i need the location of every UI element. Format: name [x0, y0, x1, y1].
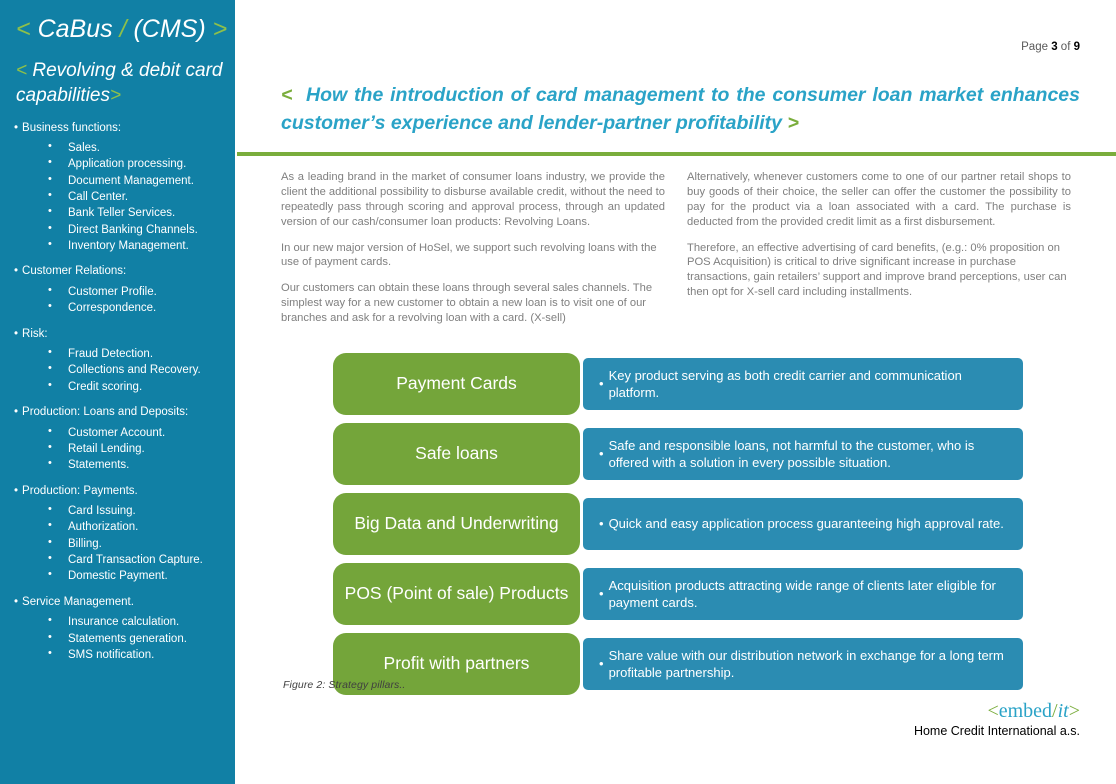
pillar-box[interactable]: Payment Cards [333, 353, 580, 415]
pillar-description-box: • Quick and easy application process gua… [583, 498, 1023, 550]
list-item[interactable]: Application processing. [10, 156, 225, 172]
diagram-row: POS (Point of sale) Products • Acquisiti… [333, 563, 1023, 625]
bullet-icon: • [599, 375, 604, 392]
pillar-description-text: Safe and responsible loans, not harmful … [609, 437, 1009, 472]
bullet-icon: • [599, 515, 604, 532]
list-item[interactable]: Billing. [10, 536, 225, 552]
bullet-icon: • [599, 655, 604, 672]
sidebar-title-main: CaBus [38, 15, 113, 43]
list-item[interactable]: Bank Teller Services. [10, 205, 225, 221]
title-divider [237, 152, 1116, 156]
paragraph: In our new major version of HoSel, we su… [281, 241, 665, 271]
sidebar-group-label: •Production: Payments. [14, 484, 225, 500]
pillar-description-text: Acquisition products attracting wide ran… [609, 577, 1009, 612]
page-label: Page [1021, 41, 1048, 53]
sidebar-group-title: Production: Payments. [22, 485, 138, 497]
sidebar-group-label: •Risk: [14, 327, 225, 343]
page-title: < How the introduction of card managemen… [281, 81, 1080, 138]
page-number: Page 3 of 9 [1021, 41, 1080, 53]
sidebar-sublist: Sales. Application processing. Document … [10, 140, 225, 254]
sidebar-group-title: Business functions: [22, 122, 121, 134]
bullet-icon: • [599, 445, 604, 462]
list-item[interactable]: Credit scoring. [10, 379, 225, 395]
sidebar: < CaBus / (CMS) > < Revolving & debit ca… [0, 0, 235, 784]
diagram-row: Big Data and Underwriting • Quick and ea… [333, 493, 1023, 555]
list-item[interactable]: Card Transaction Capture. [10, 552, 225, 568]
sidebar-sublist: Card Issuing. Authorization. Billing. Ca… [10, 503, 225, 585]
angle-close-icon: > [1069, 700, 1080, 722]
figure-caption: Figure 2: Strategy pillars.. [283, 679, 405, 691]
page-total: 9 [1074, 41, 1080, 53]
sidebar-sublist: Insurance calculation. Statements genera… [10, 614, 225, 663]
sidebar-group-title: Risk: [22, 328, 48, 340]
slide-page: < CaBus / (CMS) > < Revolving & debit ca… [0, 0, 1116, 784]
list-item[interactable]: Authorization. [10, 519, 225, 535]
pillar-description-box: • Acquisition products attracting wide r… [583, 568, 1023, 620]
sidebar-groups: •Business functions: Sales. Application … [10, 121, 225, 664]
pillar-description-box: • Safe and responsible loans, not harmfu… [583, 428, 1023, 480]
list-item[interactable]: Fraud Detection. [10, 346, 225, 362]
diagram-row: Payment Cards • Key product serving as b… [333, 353, 1023, 415]
angle-open-icon: < [281, 84, 292, 106]
list-item[interactable]: Sales. [10, 140, 225, 156]
page-current: 3 [1051, 41, 1057, 53]
paragraph: Our customers can obtain these loans thr… [281, 281, 665, 326]
pillar-box[interactable]: Safe loans [333, 423, 580, 485]
list-item[interactable]: Correspondence. [10, 300, 225, 316]
angle-open-icon: < [16, 60, 27, 81]
pillar-description-box: • Key product serving as both credit car… [583, 358, 1023, 410]
list-item[interactable]: Insurance calculation. [10, 614, 225, 630]
list-item[interactable]: Document Management. [10, 173, 225, 189]
sidebar-group-label: •Service Management. [14, 595, 225, 611]
pillar-description-text: Quick and easy application process guara… [609, 515, 1004, 532]
list-item[interactable]: Retail Lending. [10, 441, 225, 457]
diagram-row: Safe loans • Safe and responsible loans,… [333, 423, 1023, 485]
list-item[interactable]: Inventory Management. [10, 238, 225, 254]
list-item[interactable]: Domestic Payment. [10, 568, 225, 584]
body-column-right: Alternatively, whenever customers come t… [687, 170, 1071, 337]
angle-close-icon: > [213, 15, 228, 43]
sidebar-sublist: Customer Account. Retail Lending. Statem… [10, 425, 225, 474]
list-item[interactable]: Card Issuing. [10, 503, 225, 519]
list-item[interactable]: Collections and Recovery. [10, 362, 225, 378]
list-item[interactable]: SMS notification. [10, 647, 225, 663]
sidebar-sublist: Customer Profile. Correspondence. [10, 284, 225, 317]
page-title-text: How the introduction of card management … [281, 84, 1080, 134]
logo-it-text: it [1058, 700, 1069, 722]
sidebar-group-title: Production: Loans and Deposits: [22, 406, 188, 418]
list-item[interactable]: Customer Profile. [10, 284, 225, 300]
strategy-pillars-diagram: Payment Cards • Key product serving as b… [333, 353, 1023, 703]
list-item[interactable]: Customer Account. [10, 425, 225, 441]
pillar-box[interactable]: Big Data and Underwriting [333, 493, 580, 555]
sidebar-sublist: Fraud Detection. Collections and Recover… [10, 346, 225, 395]
pillar-description-box: • Share value with our distribution netw… [583, 638, 1023, 690]
pillar-description-text: Key product serving as both credit carri… [609, 367, 1009, 402]
paragraph: Therefore, an effective advertising of c… [687, 241, 1071, 301]
angle-close-icon: > [110, 85, 121, 106]
list-item[interactable]: Statements generation. [10, 631, 225, 647]
page-of-label: of [1061, 41, 1071, 53]
logo-embed-text: embed [999, 700, 1052, 722]
main-content: Page 3 of 9 < How the introduction of ca… [235, 0, 1116, 784]
angle-close-icon: > [787, 112, 798, 134]
sidebar-group-label: •Business functions: [14, 121, 225, 137]
angle-open-icon: < [16, 15, 31, 43]
bullet-icon: • [599, 585, 604, 602]
sidebar-group-label: •Production: Loans and Deposits: [14, 405, 225, 421]
sidebar-group-title: Service Management. [22, 596, 134, 608]
paragraph: As a leading brand in the market of cons… [281, 170, 665, 230]
angle-open-icon: < [987, 700, 998, 722]
sidebar-group-title: Customer Relations: [22, 265, 126, 277]
footer: <embed/it> Home Credit International a.s… [914, 700, 1080, 738]
sidebar-title: < CaBus / (CMS) > [16, 14, 225, 45]
paragraph: Alternatively, whenever customers come t… [687, 170, 1071, 230]
list-item[interactable]: Direct Banking Channels. [10, 222, 225, 238]
sidebar-subtitle: < Revolving & debit card capabilities> [16, 59, 225, 108]
list-item[interactable]: Call Center. [10, 189, 225, 205]
pillar-description-text: Share value with our distribution networ… [609, 647, 1009, 682]
sidebar-title-cms: (CMS) [133, 15, 205, 43]
diagram-row: Profit with partners • Share value with … [333, 633, 1023, 695]
slash-icon: / [120, 15, 127, 43]
body-column-left: As a leading brand in the market of cons… [281, 170, 665, 337]
company-name: Home Credit International a.s. [914, 724, 1080, 738]
list-item[interactable]: Statements. [10, 457, 225, 473]
sidebar-group-label: •Customer Relations: [14, 264, 225, 280]
pillar-box[interactable]: POS (Point of sale) Products [333, 563, 580, 625]
body-columns: As a leading brand in the market of cons… [281, 170, 1071, 337]
embedit-logo: <embed/it> [914, 700, 1080, 722]
